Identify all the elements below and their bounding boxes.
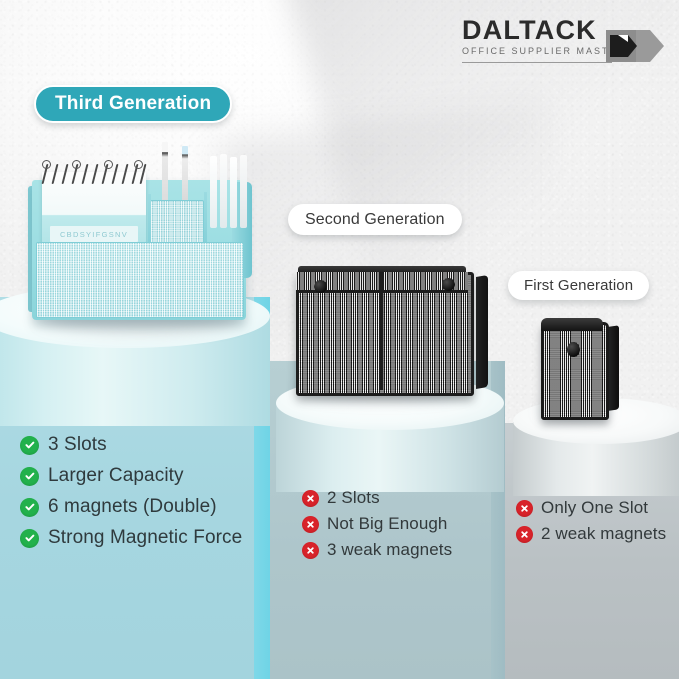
cross-icon — [516, 500, 533, 517]
feature-label: Larger Capacity — [48, 465, 184, 487]
organizer-divider — [379, 272, 383, 390]
feature-item: Larger Capacity — [20, 465, 242, 487]
cup-body-mesh — [541, 322, 609, 420]
brand-logo: DALTACK OFFICE SUPPLIER MASTER — [462, 16, 662, 64]
feature-list-third-generation: 3 Slots Larger Capacity 6 magnets (Doubl… — [20, 434, 242, 558]
feature-label: 2 weak magnets — [541, 524, 666, 544]
feature-label: Not Big Enough — [327, 514, 447, 534]
feature-label: 3 Slots — [48, 434, 107, 456]
feature-item: Strong Magnetic Force — [20, 527, 242, 549]
double-chevron-arrow-icon — [606, 28, 664, 64]
feature-label: Strong Magnetic Force — [48, 527, 242, 549]
feature-label: Only One Slot — [541, 498, 648, 518]
feature-label: 3 weak magnets — [327, 540, 452, 560]
logo-underline — [462, 62, 612, 63]
notepad-label: CBDSYIFGSNV — [50, 226, 138, 242]
comparison-infographic: CBDSYIFGSNV Third Generation — [0, 0, 679, 679]
cup-right-side — [609, 325, 619, 410]
magnet-icon-left — [314, 280, 327, 293]
check-icon — [20, 498, 39, 517]
magnet-icon — [567, 342, 580, 357]
check-icon — [20, 436, 39, 455]
cross-icon — [302, 542, 319, 559]
feature-item: 2 weak magnets — [516, 524, 666, 544]
organizer-right-side — [476, 275, 488, 389]
check-icon — [20, 467, 39, 486]
feature-item: 3 Slots — [20, 434, 242, 456]
cup-rim — [541, 318, 603, 331]
badge-first-generation: First Generation — [508, 271, 649, 300]
pencil-1 — [162, 142, 168, 204]
badge-third-generation: Third Generation — [34, 85, 232, 123]
badge-second-generation: Second Generation — [288, 204, 462, 235]
product-first-generation-cup — [541, 316, 611, 416]
feature-item: 2 Slots — [302, 488, 452, 508]
feature-item: 6 magnets (Double) — [20, 496, 242, 518]
product-second-generation-organizer — [296, 262, 478, 392]
pen-1 — [210, 156, 217, 228]
feature-item: Only One Slot — [516, 498, 666, 518]
pen-2 — [220, 154, 227, 228]
feature-list-second-generation: 2 Slots Not Big Enough 3 weak magnets — [302, 488, 452, 566]
feature-list-first-generation: Only One Slot 2 weak magnets — [516, 498, 666, 550]
check-icon — [20, 529, 39, 548]
notepad-spiral-coil — [42, 164, 148, 186]
feature-item: Not Big Enough — [302, 514, 452, 534]
pen-4 — [240, 155, 247, 228]
organizer-front-mesh — [36, 242, 244, 318]
feature-label: 6 magnets (Double) — [48, 496, 217, 518]
feature-label: 2 Slots — [327, 488, 380, 508]
magnet-icon-right — [442, 278, 455, 291]
cross-icon — [302, 516, 319, 533]
cross-icon — [516, 526, 533, 543]
pencil-2 — [182, 146, 188, 204]
pen-3 — [230, 157, 237, 228]
feature-item: 3 weak magnets — [302, 540, 452, 560]
cross-icon — [302, 490, 319, 507]
product-third-generation-organizer: CBDSYIFGSNV — [24, 142, 254, 327]
